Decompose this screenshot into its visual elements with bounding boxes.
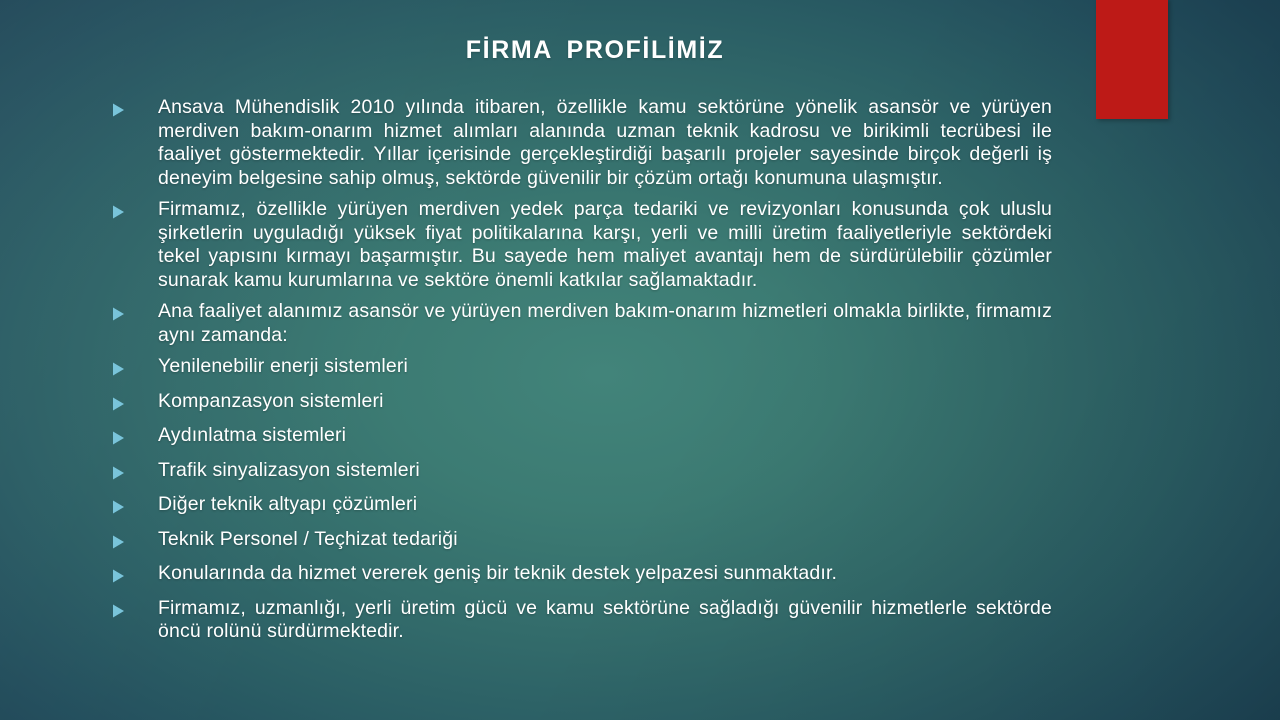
triangle-right-icon — [112, 198, 158, 219]
bullet-text: Ansava Mühendislik 2010 yılında itibaren… — [158, 96, 1052, 190]
bullet-row: Teknik Personel / Teçhizat tedariği — [112, 528, 1052, 552]
triangle-right-icon — [112, 96, 158, 117]
bullet-text: Aydınlatma sistemleri — [158, 424, 1052, 448]
bullet-row: Firmamız, uzmanlığı, yerli üretim gücü v… — [112, 597, 1052, 644]
bullet-row: Diğer teknik altyapı çözümleri — [112, 493, 1052, 517]
triangle-right-icon — [112, 300, 158, 321]
triangle-right-icon — [112, 562, 158, 583]
bullet-text: Konularında da hizmet vererek geniş bir … — [158, 562, 1052, 586]
bullet-text: Firmamız, uzmanlığı, yerli üretim gücü v… — [158, 597, 1052, 644]
triangle-right-icon — [112, 597, 158, 618]
bullet-row: Konularında da hizmet vererek geniş bir … — [112, 562, 1052, 586]
bullet-text: Yenilenebilir enerji sistemleri — [158, 355, 1052, 379]
presentation-slide: FİRMA PROFİLİMİZ Ansava Mühendislik 2010… — [0, 0, 1280, 720]
slide-title: FİRMA PROFİLİMİZ — [0, 36, 1190, 65]
triangle-right-icon — [112, 390, 158, 411]
bullet-row: Aydınlatma sistemleri — [112, 424, 1052, 448]
bullet-text: Ana faaliyet alanımız asansör ve yürüyen… — [158, 300, 1052, 347]
bullet-row: Kompanzasyon sistemleri — [112, 390, 1052, 414]
bullet-text: Kompanzasyon sistemleri — [158, 390, 1052, 414]
triangle-right-icon — [112, 355, 158, 376]
slide-body: Ansava Mühendislik 2010 yılında itibaren… — [112, 96, 1052, 652]
bullet-text: Firmamız, özellikle yürüyen merdiven yed… — [158, 198, 1052, 292]
bullet-row: Yenilenebilir enerji sistemleri — [112, 355, 1052, 379]
triangle-right-icon — [112, 459, 158, 480]
bullet-text: Diğer teknik altyapı çözümleri — [158, 493, 1052, 517]
triangle-right-icon — [112, 424, 158, 445]
bullet-row: Ansava Mühendislik 2010 yılında itibaren… — [112, 96, 1052, 190]
triangle-right-icon — [112, 528, 158, 549]
bullet-row: Ana faaliyet alanımız asansör ve yürüyen… — [112, 300, 1052, 347]
bullet-text: Trafik sinyalizasyon sistemleri — [158, 459, 1052, 483]
bullet-row: Firmamız, özellikle yürüyen merdiven yed… — [112, 198, 1052, 292]
bullet-row: Trafik sinyalizasyon sistemleri — [112, 459, 1052, 483]
bullet-text: Teknik Personel / Teçhizat tedariği — [158, 528, 1052, 552]
triangle-right-icon — [112, 493, 158, 514]
